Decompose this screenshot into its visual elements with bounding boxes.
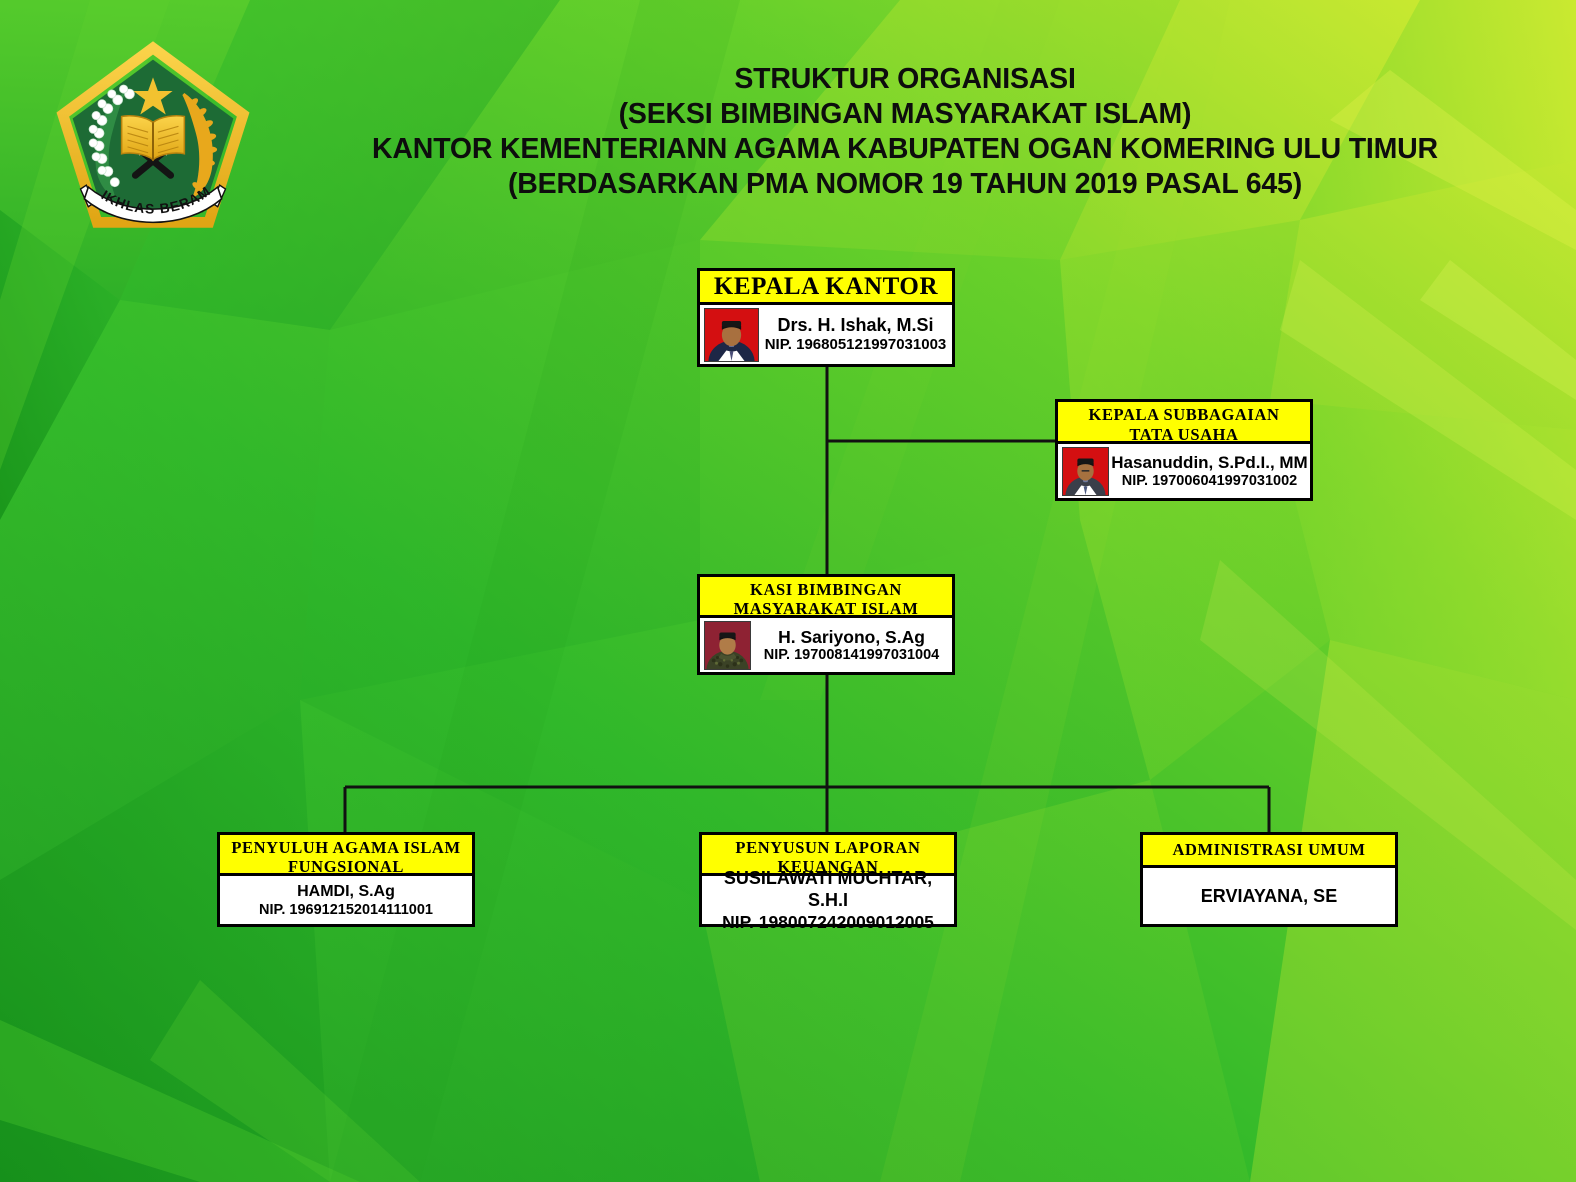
portrait-sariyono: [704, 621, 751, 670]
person-nip: NIP. 196805121997031003: [765, 336, 947, 354]
page-title: STRUKTUR ORGANISASI (SEKSI BIMBINGAN MAS…: [250, 62, 1560, 202]
title-line-1: PENYULUH AGAMA ISLAM: [220, 838, 472, 857]
person-name: Hasanuddin, S.Pd.I., MM: [1111, 453, 1307, 473]
node-subbag-tata-usaha-title: KEPALA SUBBAGAIAN TATA USAHA: [1058, 402, 1310, 444]
node-penyusun-laporan-keuangan[interactable]: PENYUSUN LAPORAN KEUANGAN SUSILAWATI MUC…: [699, 832, 957, 927]
title-line-1: KASI BIMBINGAN: [700, 580, 952, 599]
node-kasi-bimas[interactable]: KASI BIMBINGAN MASYARAKAT ISLAM: [697, 574, 955, 675]
title-line-2: TATA USAHA: [1058, 425, 1310, 445]
kementerian-agama-logo: IKHLAS BERAMAL: [55, 38, 251, 246]
node-subbag-tata-usaha-body: Hasanuddin, S.Pd.I., MM NIP. 19700604199…: [1058, 444, 1310, 498]
node-administrasi-body: ERVIAYANA, SE: [1143, 868, 1395, 924]
person-nip: NIP. 198007242009012005: [722, 911, 934, 933]
node-penyusun-body: SUSILAWATI MUCHTAR, S.H.I NIP. 198007242…: [702, 876, 954, 924]
node-penyuluh-person: HAMDI, S.Ag NIP. 196912152014111001: [220, 876, 472, 924]
person-nip: NIP. 197006041997031002: [1122, 473, 1298, 490]
node-kepala-kantor-body: Drs. H. Ishak, M.Si NIP. 196805121997031…: [700, 305, 952, 364]
title-line-1: STRUKTUR ORGANISASI: [250, 62, 1560, 97]
node-kasi-bimas-body: H. Sariyono, S.Ag NIP. 19700814199703100…: [700, 618, 952, 672]
person-name: Drs. H. Ishak, M.Si: [777, 315, 933, 336]
person-name: HAMDI, S.Ag: [297, 882, 395, 901]
node-kasi-bimas-title: KASI BIMBINGAN MASYARAKAT ISLAM: [700, 577, 952, 618]
node-subbag-tata-usaha-person: Hasanuddin, S.Pd.I., MM NIP. 19700604199…: [1109, 444, 1310, 498]
portrait-hasanuddin: [1062, 447, 1109, 496]
node-penyuluh-title: PENYULUH AGAMA ISLAM FUNGSIONAL: [220, 835, 472, 876]
node-administrasi-umum[interactable]: ADMINISTRASI UMUM ERVIAYANA, SE: [1140, 832, 1398, 927]
title-line-2: (SEKSI BIMBINGAN MASYARAKAT ISLAM): [250, 97, 1560, 132]
node-penyuluh-agama-islam-fungsional[interactable]: PENYULUH AGAMA ISLAM FUNGSIONAL HAMDI, S…: [217, 832, 475, 927]
person-name: SUSILAWATI MUCHTAR, S.H.I: [702, 867, 954, 911]
node-administrasi-title: ADMINISTRASI UMUM: [1143, 835, 1395, 868]
org-chart-canvas: IKHLAS BERAMAL STRUKTUR ORGANISASI (SEKS…: [0, 0, 1576, 1182]
node-kasi-bimas-person: H. Sariyono, S.Ag NIP. 19700814199703100…: [751, 618, 952, 672]
title-line-1: PENYUSUN LAPORAN: [702, 838, 954, 857]
node-kepala-kantor-title: KEPALA KANTOR: [700, 271, 952, 305]
person-name: H. Sariyono, S.Ag: [778, 627, 925, 647]
node-penyusun-person: SUSILAWATI MUCHTAR, S.H.I NIP. 198007242…: [702, 876, 954, 924]
person-name: ERVIAYANA, SE: [1201, 885, 1337, 907]
node-administrasi-person: ERVIAYANA, SE: [1143, 868, 1395, 924]
title-line-2: MASYARAKAT ISLAM: [700, 599, 952, 618]
portrait-ishak: [704, 308, 759, 362]
person-nip: NIP. 197008141997031004: [764, 647, 940, 664]
title-line-2: FUNGSIONAL: [220, 857, 472, 876]
title-line-1: KEPALA SUBBAGAIAN: [1058, 405, 1310, 425]
node-kepala-kantor-person: Drs. H. Ishak, M.Si NIP. 196805121997031…: [759, 305, 952, 364]
title-line-4: (BERDASARKAN PMA NOMOR 19 TAHUN 2019 PAS…: [250, 167, 1560, 202]
node-penyuluh-body: HAMDI, S.Ag NIP. 196912152014111001: [220, 876, 472, 924]
node-subbag-tata-usaha[interactable]: KEPALA SUBBAGAIAN TATA USAHA: [1055, 399, 1313, 501]
person-nip: NIP. 196912152014111001: [259, 901, 433, 919]
node-kepala-kantor[interactable]: KEPALA KANTOR Drs. H. Ishak, M.Si NIP. 1…: [697, 268, 955, 367]
title-line-3: KANTOR KEMENTERIANN AGAMA KABUPATEN OGAN…: [250, 132, 1560, 167]
